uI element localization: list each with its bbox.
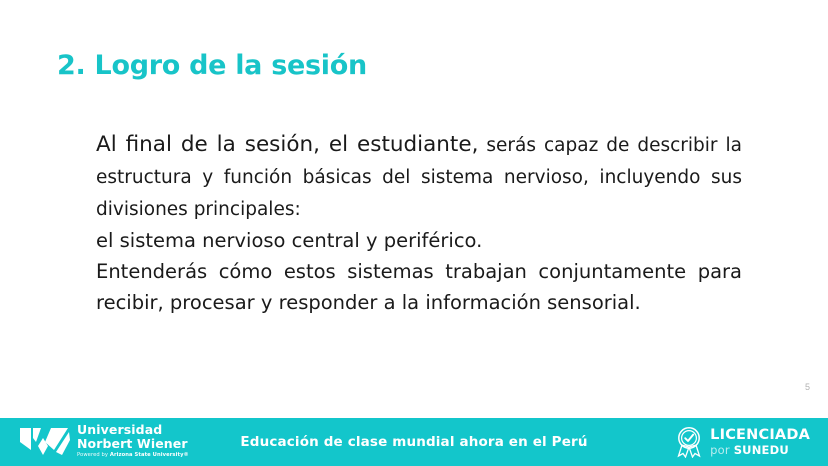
sunedu-accreditation-logo: LICENCIADA por SUNEDU [674, 426, 810, 458]
university-wordmark: Universidad Norbert Wiener Powered by Ar… [77, 424, 189, 458]
university-powered-by: Powered by Arizona State University® [77, 453, 189, 458]
sunedu-entity-name: SUNEDU [734, 443, 789, 457]
body-paragraph-understanding: Entenderás cómo estos sistemas trabajan … [96, 256, 742, 318]
wiener-w-mark-icon [20, 426, 70, 457]
powered-by-name: Arizona State University® [110, 452, 189, 458]
sunedu-por-prefix: por [710, 443, 734, 457]
slide-page-number: 5 [805, 382, 810, 392]
university-name-line2: Norbert Wiener [77, 438, 189, 451]
sunedu-label: por SUNEDU [710, 445, 810, 457]
powered-by-prefix: Powered by [77, 452, 110, 458]
presentation-slide: 2. Logro de la sesión Al final de la ses… [0, 0, 828, 466]
body-paragraph-objective: Al final de la sesión, el estudiante, se… [96, 129, 742, 225]
slide-body-text: Al final de la sesión, el estudiante, se… [96, 129, 742, 318]
licenciada-label: LICENCIADA [710, 428, 810, 443]
university-name-line1: Universidad [77, 424, 189, 437]
university-logo: Universidad Norbert Wiener Powered by Ar… [20, 424, 189, 458]
body-paragraph-divisions: el sistema nervioso central y periférico… [96, 225, 742, 256]
body-paragraph-lead: Al final de la sesión, el estudiante, [96, 132, 478, 157]
sunedu-wordmark: LICENCIADA por SUNEDU [710, 428, 810, 456]
page-title: 2. Logro de la sesión [57, 50, 367, 81]
award-seal-check-icon [674, 426, 704, 458]
